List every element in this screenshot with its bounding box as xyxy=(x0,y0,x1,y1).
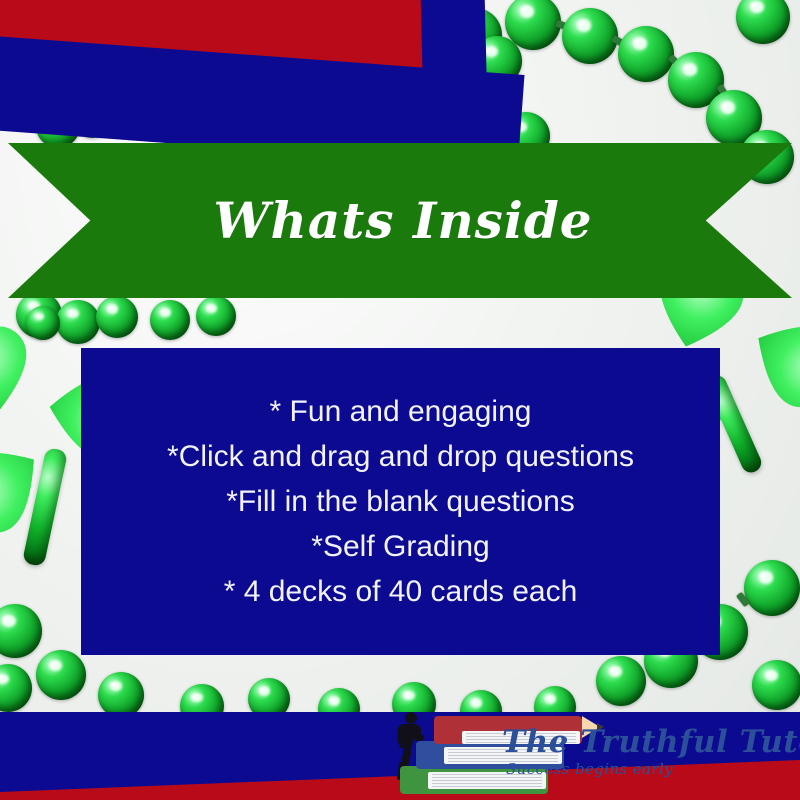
features-list: * Fun and engaging *Click and drag and d… xyxy=(81,348,720,655)
page-title: Whats Inside xyxy=(0,143,800,298)
poster-canvas: Whats Inside * Fun and engaging *Click a… xyxy=(0,0,800,800)
bead xyxy=(618,26,674,82)
features-ul: * Fun and engaging *Click and drag and d… xyxy=(167,389,634,614)
list-item: *Click and drag and drop questions xyxy=(167,434,634,479)
list-item: * Fun and engaging xyxy=(167,389,634,434)
bead xyxy=(0,664,32,712)
brand-tagline: Success begins early xyxy=(506,760,673,778)
list-item: *Fill in the blank questions xyxy=(167,479,634,524)
bead xyxy=(562,8,618,64)
list-item: *Self Grading xyxy=(167,524,634,569)
list-item: * 4 decks of 40 cards each xyxy=(167,569,634,614)
brand-logo: The Truthful Tutor Success begins early xyxy=(390,706,790,800)
bead xyxy=(196,296,236,336)
brand-name: The Truthful Tutor xyxy=(502,724,800,760)
bead xyxy=(0,604,42,658)
bead xyxy=(36,650,86,700)
bead xyxy=(596,656,646,706)
bead xyxy=(752,660,800,710)
bead xyxy=(26,306,60,340)
bead xyxy=(736,0,790,44)
bead xyxy=(744,560,800,616)
